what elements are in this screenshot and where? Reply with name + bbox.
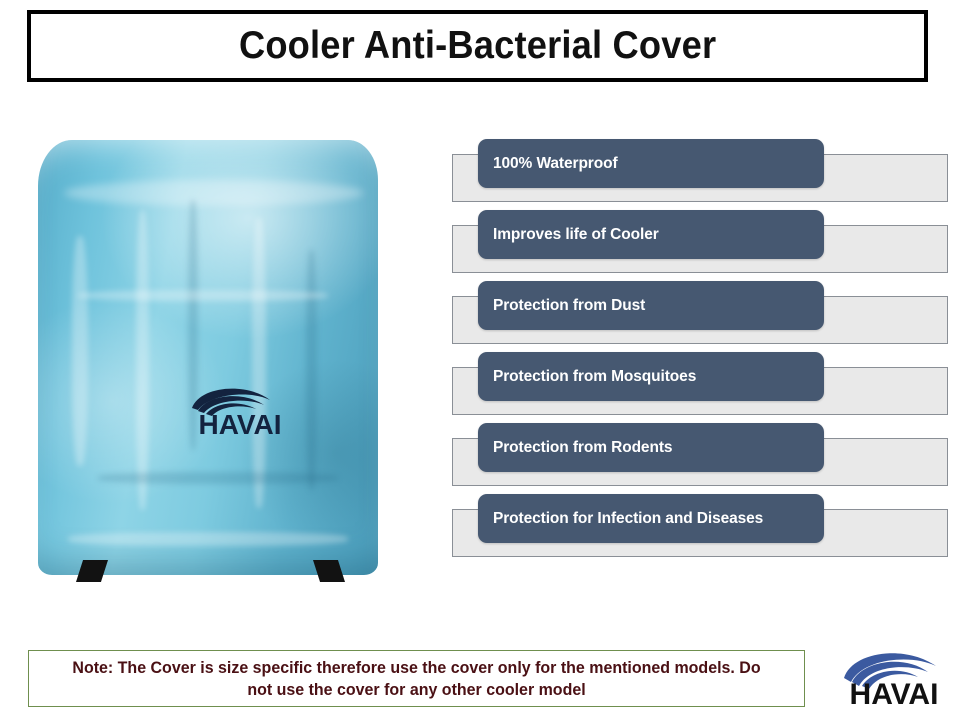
feature-label: Improves life of Cooler [478, 226, 659, 244]
fabric-wrinkle [306, 250, 317, 490]
feature-label: Protection from Mosquitoes [478, 368, 696, 386]
feature-row: 100% Waterproof [452, 136, 952, 207]
feature-chip: Protection from Rodents [478, 423, 824, 472]
fabric-wrinkle [72, 236, 88, 466]
feature-chip: Improves life of Cooler [478, 210, 824, 259]
fabric-wrinkle [252, 218, 266, 508]
feature-label: Protection for Infection and Diseases [478, 510, 763, 528]
page-title-box: Cooler Anti-Bacterial Cover [27, 10, 928, 82]
fabric-wrinkle [78, 290, 328, 301]
feature-label: Protection from Rodents [478, 439, 672, 457]
feature-chip: Protection from Mosquitoes [478, 352, 824, 401]
brand-wordmark: HAVAI [850, 678, 939, 708]
cover-top-seam [64, 180, 364, 206]
cooler-cover-fabric: HAVAI [38, 140, 378, 575]
feature-row: Protection from Dust [452, 278, 952, 349]
feature-chip: 100% Waterproof [478, 139, 824, 188]
feature-row: Protection from Mosquitoes [452, 349, 952, 420]
fabric-wrinkle [68, 532, 348, 546]
fabric-wrinkle [136, 210, 149, 510]
feature-chip: Protection for Infection and Diseases [478, 494, 824, 543]
feature-row: Protection from Rodents [452, 420, 952, 491]
fabric-wrinkle [98, 472, 338, 484]
product-image: HAVAI [20, 128, 405, 610]
cover-logo-wordmark: HAVAI [199, 409, 282, 438]
page-title: Cooler Anti-Bacterial Cover [239, 24, 716, 68]
feature-row: Improves life of Cooler [452, 207, 952, 278]
havai-brand-logo: HAVAI [838, 642, 950, 708]
feature-row: Protection for Infection and Diseases [452, 491, 952, 562]
feature-list: 100% Waterproof Improves life of Cooler … [452, 136, 952, 562]
cover-havai-logo: HAVAI [184, 378, 296, 438]
note-box: Note: The Cover is size specific therefo… [28, 650, 805, 707]
feature-chip: Protection from Dust [478, 281, 824, 330]
note-text: Note: The Cover is size specific therefo… [62, 657, 772, 701]
feature-label: 100% Waterproof [478, 155, 618, 173]
feature-label: Protection from Dust [478, 297, 645, 315]
